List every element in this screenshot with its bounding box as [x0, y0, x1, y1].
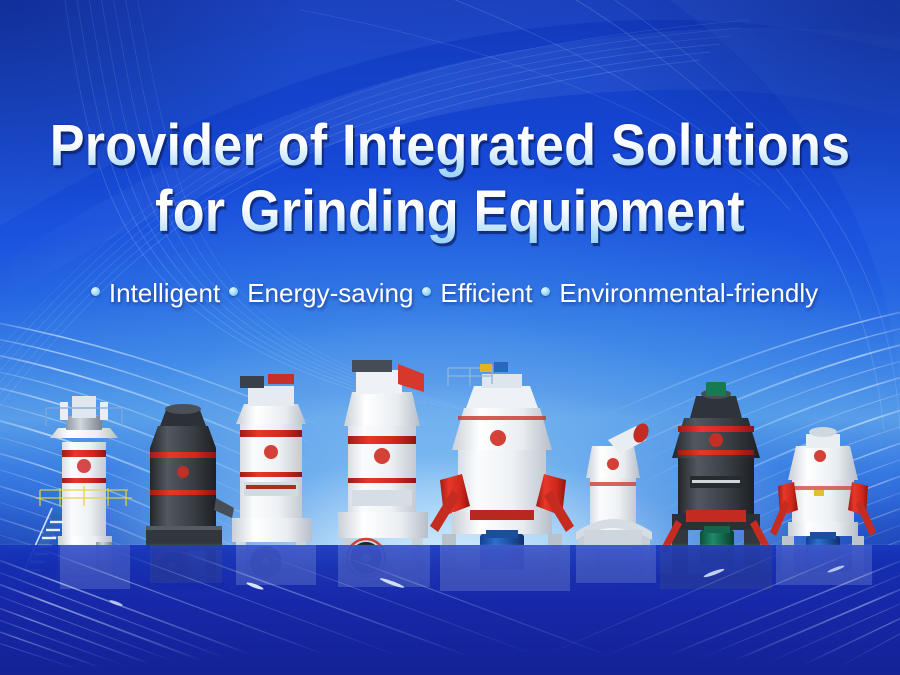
dot-bullet-icon — [91, 287, 100, 296]
feature-item-energy-saving: Energy-saving — [247, 278, 413, 309]
feature-item-intelligent: Intelligent — [109, 278, 220, 309]
headline-line-2: for Grinding Equipment — [45, 178, 855, 246]
floor-perspective-streaks — [0, 545, 900, 675]
feature-item-environmental-friendly: Environmental-friendly — [559, 278, 818, 309]
headline-line-1: Provider of Integrated Solutions — [45, 112, 855, 180]
dot-bullet-icon — [229, 287, 238, 296]
dot-bullet-icon — [422, 287, 431, 296]
subtitle-feature-list: IntelligentEnergy-savingEfficientEnviron… — [0, 276, 900, 309]
page-title: Provider of Integrated Solutions for Gri… — [0, 112, 900, 246]
dot-bullet-icon — [541, 287, 550, 296]
banner-stage: Provider of Integrated Solutions for Gri… — [0, 0, 900, 675]
feature-item-efficient: Efficient — [440, 278, 532, 309]
